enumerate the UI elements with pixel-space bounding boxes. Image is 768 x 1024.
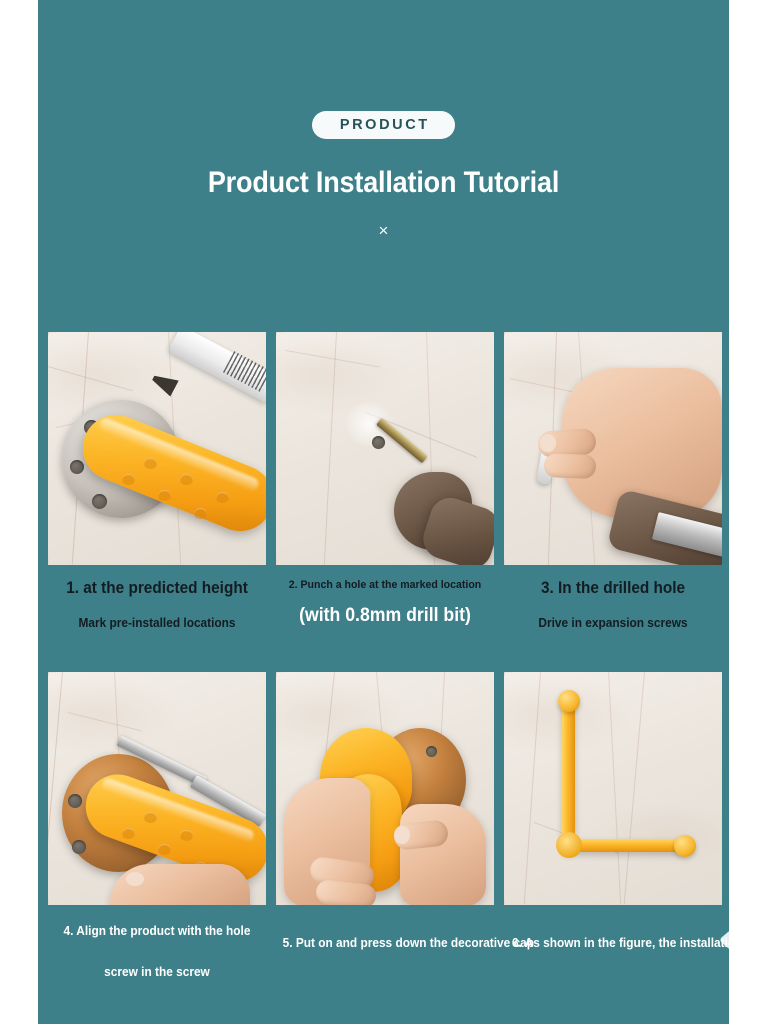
step-4-caption: 4. Align the product with the hole screw… (48, 925, 266, 978)
tutorial-panel: PRODUCT Product Installation Tutorial × (38, 0, 729, 1024)
step-5-caption: 5. Put on and press down the decorative … (276, 925, 494, 978)
step-4-caption-line2: screw in the screw (53, 966, 260, 979)
grab-bar-vertical-section (562, 698, 575, 852)
grab-bar-corner-mount (556, 832, 582, 858)
step-5-caption-line1: 5. Put on and press down the decorative … (283, 937, 534, 950)
page-title: Product Installation Tutorial (73, 166, 695, 200)
grab-bar-right-end-cap (674, 835, 696, 857)
header: PRODUCT Product Installation Tutorial × (38, 0, 729, 240)
photo-row-2 (48, 672, 729, 905)
step-3-caption: 3. In the drilled hole Drive in expansio… (504, 580, 722, 629)
step-6-caption: 6. As shown in the figure, the installat… (504, 925, 722, 978)
step-6-photo (504, 672, 722, 905)
step-2-caption-line2: (with 0.8mm drill bit) (284, 606, 487, 625)
step-4-cell (48, 672, 266, 905)
photo-row-1 (48, 332, 729, 565)
step-4-caption-line1: 4. Align the product with the hole (53, 925, 260, 938)
step-1-caption-line1: 1. at the predicted height (56, 580, 259, 597)
step-2-caption: 2. Punch a hole at the marked location (… (276, 580, 494, 629)
step-3-cell (504, 332, 722, 565)
caption-row-2: 4. Align the product with the hole screw… (48, 925, 729, 978)
grab-bar-top-end-cap (558, 690, 580, 712)
right-hand (400, 804, 486, 905)
caption-row-1: 1. at the predicted height Mark pre-inst… (48, 580, 729, 629)
step-3-caption-line2: Drive in expansion screws (509, 617, 716, 630)
step-5-cell (276, 672, 494, 905)
page-root: PRODUCT Product Installation Tutorial × (0, 0, 768, 1024)
step-1-photo (48, 332, 266, 565)
step-5-photo (276, 672, 494, 905)
step-1-caption: 1. at the predicted height Mark pre-inst… (48, 580, 266, 629)
step-4-photo (48, 672, 266, 905)
product-badge: PRODUCT (312, 111, 455, 139)
carousel-prev-arrow[interactable] (716, 920, 746, 960)
step-1-cell (48, 332, 266, 565)
step-3-photo (504, 332, 722, 565)
step-3-caption-line1: 3. In the drilled hole (512, 580, 715, 597)
step-6-cell (504, 672, 722, 905)
step-2-caption-line1: 2. Punch a hole at the marked location (280, 580, 489, 591)
cross-divider-icon: × (38, 222, 729, 240)
step-2-photo (276, 332, 494, 565)
step-2-cell (276, 332, 494, 565)
step-1-caption-line2: Mark pre-installed locations (53, 617, 260, 630)
